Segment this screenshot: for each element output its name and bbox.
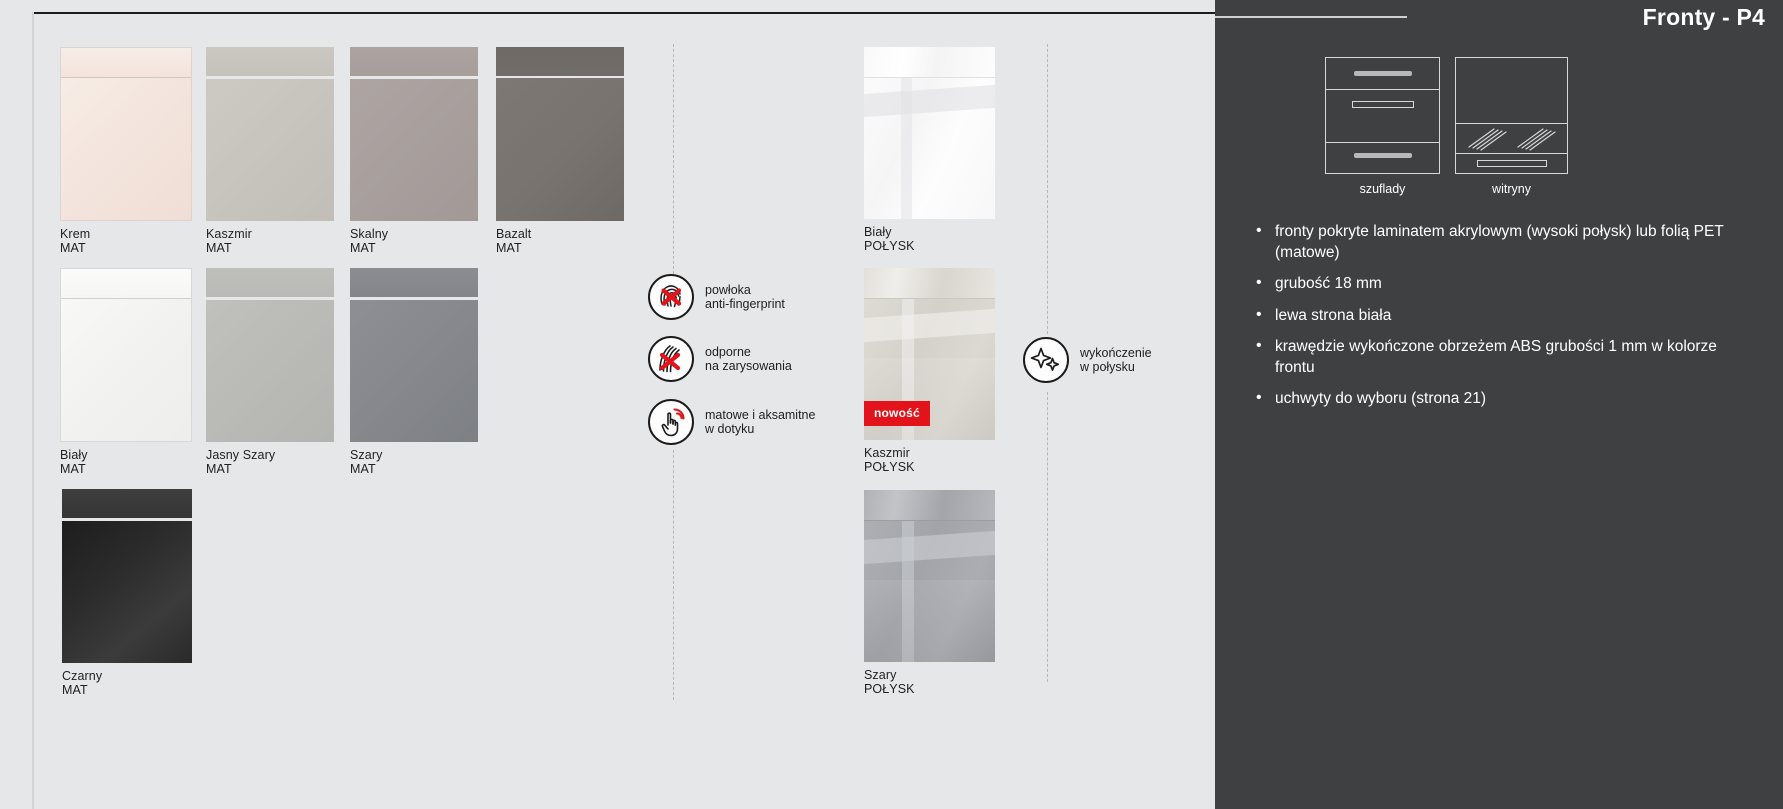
door-front: [864, 521, 995, 662]
scratch-crossed-icon: [648, 336, 694, 382]
cabinet-glass-segment: [1456, 58, 1567, 124]
nowosc-badge: nowość: [864, 401, 930, 426]
swatch-label: Skalny MAT: [350, 228, 478, 255]
spec-bullet-item: krawędzie wykończone obrzeżem ABS gruboś…: [1253, 337, 1758, 378]
door-front: [864, 78, 995, 219]
feature-label: powłoka anti-fingerprint: [705, 283, 785, 312]
door-front: [350, 79, 478, 221]
spec-bullet-item: grubość 18 mm: [1253, 274, 1758, 295]
swatch-finish: MAT: [60, 463, 192, 477]
catalog-light-area: Krem MAT Kaszmir MAT Skalny MAT: [0, 0, 1215, 809]
swatch-label: Kaszmir MAT: [206, 228, 334, 255]
gloss-reflection: [864, 358, 995, 440]
spec-bullet-item: lewa strona biała: [1253, 306, 1758, 327]
dashed-divider-left: [673, 44, 674, 274]
swatch-label: Biały POŁYSK: [864, 226, 995, 253]
swatch-szary-mat[interactable]: Szary MAT: [350, 268, 478, 476]
swatch-name: Szary: [864, 668, 896, 682]
front-panel: [60, 268, 192, 442]
door-front: [61, 299, 191, 441]
swatch-label: Czarny MAT: [62, 670, 192, 697]
swatch-kaszmir-mat[interactable]: Kaszmir MAT: [206, 47, 334, 255]
swatch-label: Bazalt MAT: [496, 228, 624, 255]
cabinet-base-segment: [1456, 154, 1567, 173]
swatch-szary-polysk[interactable]: Szary POŁYSK: [864, 490, 995, 696]
door-front: [206, 300, 334, 442]
swatch-czarny-mat[interactable]: Czarny MAT: [62, 489, 192, 697]
feature-label: odporne na zarysowania: [705, 345, 792, 374]
drawers-cabinet-icon: [1325, 57, 1440, 174]
left-divider-rule: [32, 12, 34, 809]
swatch-name: Szary: [350, 448, 382, 462]
glass-cabinet-icon: [1455, 57, 1568, 174]
front-panel: [60, 47, 192, 221]
gloss-reflection: [901, 78, 913, 219]
swatch-name: Kaszmir: [206, 227, 252, 241]
feature-scratch-resistant: odporne na zarysowania: [648, 336, 792, 382]
cabinet-glass-shine-segment: [1456, 124, 1567, 154]
handle-icon: [1477, 160, 1547, 167]
swatch-name: Jasny Szary: [206, 448, 275, 462]
swatch-bazalt-mat[interactable]: Bazalt MAT: [496, 47, 624, 255]
swatch-finish: MAT: [350, 463, 478, 477]
swatch-finish: MAT: [496, 242, 624, 256]
fingerprint-crossed-icon: [648, 274, 694, 320]
diagram-caption: witryny: [1455, 182, 1568, 196]
gloss-reflection: [864, 529, 995, 565]
sparkle-icon: [1023, 337, 1069, 383]
swatch-finish: MAT: [62, 684, 192, 698]
swatch-name: Skalny: [350, 227, 388, 241]
feature-label: wykończenie w połysku: [1080, 346, 1152, 375]
front-panel: [864, 47, 995, 219]
swatch-name: Kaszmir: [864, 446, 910, 460]
door-front: [496, 78, 624, 221]
top-divider-rule: [32, 12, 1215, 14]
swatch-label: Biały MAT: [60, 449, 192, 476]
swatch-finish: MAT: [350, 242, 478, 256]
drawer-front: [206, 47, 334, 76]
drawer-front: [350, 268, 478, 297]
door-front: [62, 521, 192, 663]
page-title: Fronty - P4: [1643, 4, 1765, 31]
handle-icon: [1352, 101, 1414, 108]
swatch-label: Szary POŁYSK: [864, 669, 995, 696]
feature-label: matowe i aksamitne w dotyku: [705, 408, 815, 437]
swatch-finish: MAT: [60, 242, 192, 256]
handle-icon: [1354, 71, 1412, 76]
front-panel: [350, 47, 478, 221]
swatch-finish: MAT: [206, 242, 334, 256]
dashed-divider-right-lower: [1047, 392, 1048, 682]
cabinet-drawer-segment: [1326, 58, 1439, 90]
swatch-bialy-polysk[interactable]: Biały POŁYSK: [864, 47, 995, 253]
drawer-front: [864, 47, 995, 77]
swatch-kaszmir-polysk[interactable]: nowość Kaszmir POŁYSK: [864, 268, 995, 474]
swatch-finish: POŁYSK: [864, 683, 995, 697]
swatch-bialy-mat[interactable]: Biały MAT: [60, 268, 192, 476]
swatch-krem-mat[interactable]: Krem MAT: [60, 47, 192, 255]
swatch-name: Biały: [864, 225, 892, 239]
front-panel: nowość: [864, 268, 995, 440]
swatch-label: Krem MAT: [60, 228, 192, 255]
feature-anti-fingerprint: powłoka anti-fingerprint: [648, 274, 785, 320]
swatch-finish: POŁYSK: [864, 461, 995, 475]
spec-bullet-item: fronty pokryte laminatem akrylowym (wyso…: [1253, 222, 1758, 263]
swatch-name: Czarny: [62, 669, 102, 683]
handle-icon: [1354, 153, 1412, 158]
swatch-label: Jasny Szary MAT: [206, 449, 334, 476]
drawer-front: [350, 47, 478, 76]
front-panel: [206, 268, 334, 442]
spec-dark-panel: Fronty - P4 szuflady: [1215, 0, 1783, 809]
door-front: [350, 300, 478, 442]
gloss-reflection: [864, 307, 995, 343]
dashed-divider-right-upper: [1047, 44, 1048, 334]
drawer-front: [62, 489, 192, 518]
touch-hand-icon: [648, 399, 694, 445]
drawer-front: [206, 268, 334, 297]
diagram-caption: szuflady: [1325, 182, 1440, 196]
cabinet-drawer-segment: [1326, 143, 1439, 175]
swatch-finish: POŁYSK: [864, 240, 995, 254]
swatch-jasny-szary-mat[interactable]: Jasny Szary MAT: [206, 268, 334, 476]
front-panel: [62, 489, 192, 663]
spec-bullet-item: uchwyty do wyboru (strona 21): [1253, 389, 1758, 410]
swatch-name: Biały: [60, 448, 88, 462]
front-panel: [206, 47, 334, 221]
door-front: [61, 78, 191, 220]
diagram-witryny: witryny: [1455, 57, 1568, 196]
diagram-szuflady: szuflady: [1325, 57, 1440, 196]
swatch-name: Krem: [60, 227, 90, 241]
feature-gloss-finish: wykończenie w połysku: [1023, 337, 1152, 383]
front-panel: [496, 47, 624, 221]
swatch-name: Bazalt: [496, 227, 531, 241]
dark-panel-rule: [1215, 16, 1407, 18]
cabinet-drawer-segment: [1326, 90, 1439, 143]
swatch-label: Szary MAT: [350, 449, 478, 476]
front-panel: [864, 490, 995, 662]
front-panel: [350, 268, 478, 442]
feature-matte-velvet-touch: matowe i aksamitne w dotyku: [648, 399, 815, 445]
swatch-finish: MAT: [206, 463, 334, 477]
drawer-front: [864, 268, 995, 298]
drawer-front: [864, 490, 995, 520]
swatch-skalny-mat[interactable]: Skalny MAT: [350, 47, 478, 255]
drawer-front: [61, 269, 191, 298]
spec-bullet-list: fronty pokryte laminatem akrylowym (wyso…: [1253, 222, 1758, 421]
drawer-front: [496, 47, 624, 76]
swatch-label: Kaszmir POŁYSK: [864, 447, 995, 474]
gloss-reflection: [864, 83, 995, 117]
gloss-reflection: [864, 580, 995, 662]
dashed-divider-left-lower: [673, 450, 674, 700]
drawer-front: [61, 48, 191, 77]
door-front: [206, 79, 334, 221]
